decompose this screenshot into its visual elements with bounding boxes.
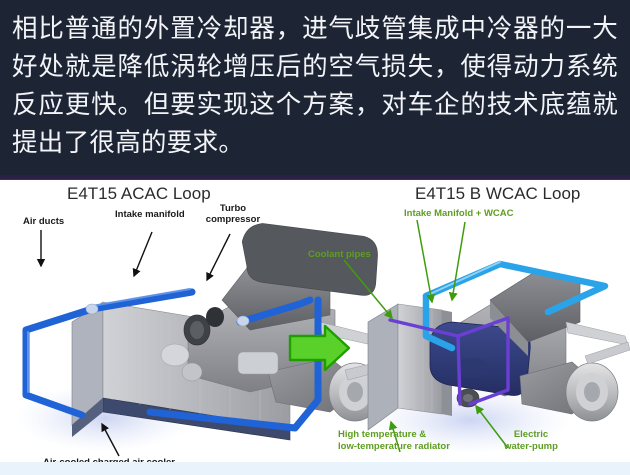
label-electric-water-pump-line1: Electric (495, 429, 567, 440)
label-turbo-compressor-line2: compressor (200, 214, 266, 225)
caption-block: 相比普通的外置冷却器，进气歧管集成中冷器的一大好处就是降低涡轮增压后的空气损失，… (0, 0, 630, 175)
diagram-panel (0, 180, 630, 462)
screenshot-root: 相比普通的外置冷却器，进气歧管集成中冷器的一大好处就是降低涡轮增压后的空气损失，… (0, 0, 630, 475)
label-intake-manifold: Intake manifold (115, 209, 185, 220)
label-turbo-compressor-line1: Turbo (200, 203, 266, 214)
caption-paragraph: 相比普通的外置冷却器，进气歧管集成中冷器的一大好处就是降低涡轮增压后的空气损失，… (12, 10, 618, 162)
label-air-ducts: Air ducts (23, 216, 64, 227)
right-diagram-title: E4T15 B WCAC Loop (415, 184, 580, 204)
left-diagram-title: E4T15 ACAC Loop (67, 184, 211, 204)
label-intake-manifold-wcac: Intake Manifold + WCAC (404, 208, 514, 219)
bottom-strip (0, 462, 630, 475)
label-coolant-pipes: Coolant pipes (308, 249, 371, 260)
label-electric-water-pump-line2: water-pump (495, 441, 567, 452)
label-radiator-line2: low-temperature radiator (338, 441, 450, 452)
label-radiator-line1: High temperature & (338, 429, 426, 440)
